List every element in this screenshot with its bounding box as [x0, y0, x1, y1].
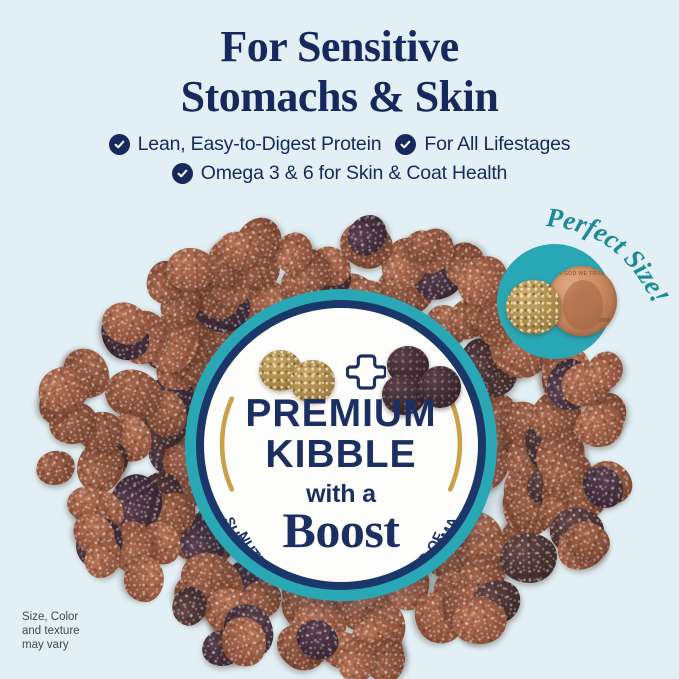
kibble-piece	[492, 393, 557, 460]
disclaimer-line-3: may vary	[22, 638, 80, 652]
kibble-piece	[405, 583, 471, 652]
kibble-piece	[144, 258, 187, 306]
kibble-piece	[533, 348, 599, 417]
kibble-piece	[202, 256, 257, 313]
kibble-piece	[373, 230, 436, 296]
feature-bullet-list: Lean, Easy-to-Digest Protein For All Lif…	[0, 133, 679, 191]
badge-title-kibble: KIBBLE	[204, 434, 478, 475]
penny-portrait	[563, 280, 603, 330]
check-circle-icon	[395, 134, 416, 155]
bullet-label: Omega 3 & 6 for Skin & Coat Health	[201, 162, 507, 185]
kibble-piece	[62, 481, 113, 529]
kibble-piece	[45, 397, 101, 448]
kibble-piece	[541, 354, 598, 416]
badge-navy-ring: NUTRIENTBOOST™ IS A BLEND OF SUPERFOODS,…	[196, 300, 486, 590]
kibble-piece	[104, 469, 167, 538]
badge-face: NUTRIENTBOOST™ IS A BLEND OF SUPERFOODS,…	[204, 308, 478, 582]
kibble-piece	[578, 345, 630, 399]
disclaimer-text: Size, Color and texture may vary	[22, 610, 80, 652]
kibble-piece	[555, 355, 618, 414]
kibble-piece	[208, 605, 262, 656]
kibble-piece	[354, 627, 411, 679]
kibble-piece	[201, 248, 246, 288]
kibble-piece	[549, 507, 605, 556]
kibble-piece	[290, 601, 346, 651]
kibble-piece	[443, 587, 507, 652]
kibble-piece	[405, 244, 472, 308]
kibble-piece	[344, 609, 409, 670]
kibble-piece	[152, 278, 207, 334]
kibble-piece	[65, 505, 123, 563]
badge-text-block: PREMIUM KIBBLE with a Boost	[204, 394, 478, 555]
kibble-piece	[559, 515, 616, 568]
kibble-piece	[514, 407, 591, 485]
kibble-piece	[507, 435, 557, 492]
kibble-piece	[134, 515, 186, 570]
bullet-item-protein: Lean, Easy-to-Digest Protein	[109, 133, 382, 156]
kibble-piece	[216, 612, 272, 672]
kibble-piece	[99, 363, 167, 426]
kibble-piece	[400, 225, 448, 271]
bullet-row-2: Omega 3 & 6 for Skin & Coat Health	[0, 162, 679, 185]
kibble-piece	[269, 227, 319, 279]
kibble-piece	[39, 386, 72, 424]
kibble-piece	[530, 424, 590, 489]
kibble-piece	[71, 436, 129, 499]
kibble-piece	[217, 234, 288, 301]
kibble-piece	[291, 248, 331, 293]
kibble-piece	[123, 556, 164, 603]
kibble-piece	[334, 215, 399, 276]
kibble-piece	[319, 629, 368, 673]
headline-line-1: For Sensitive	[220, 22, 458, 71]
kibble-piece	[356, 596, 412, 656]
kibble-piece	[535, 489, 587, 537]
kibble-piece	[215, 595, 283, 666]
kibble-piece	[197, 580, 264, 643]
kibble-piece	[572, 401, 627, 451]
perfect-size-circle: IN GOD WE TRUST 2008	[497, 244, 612, 359]
disclaimer-line-1: Size, Color	[22, 610, 80, 624]
kibble-piece	[340, 208, 395, 264]
check-circle-icon	[109, 134, 130, 155]
badge-subtitle-boost: Boost	[204, 505, 478, 555]
kibble-piece	[559, 475, 611, 525]
kibble-piece	[108, 520, 157, 575]
bullet-row-1: Lean, Easy-to-Digest Protein For All Lif…	[0, 133, 679, 156]
kibble-piece	[55, 340, 118, 406]
kibble-piece	[131, 466, 189, 528]
bullet-label: For All Lifestages	[424, 133, 570, 156]
kibble-piece	[289, 613, 346, 668]
kibble-piece	[138, 307, 207, 380]
kibble-piece	[77, 532, 129, 585]
kibble-piece	[539, 470, 586, 522]
kibble-piece	[112, 304, 176, 372]
kibble-piece	[32, 447, 79, 490]
kibble-piece	[57, 342, 115, 403]
kibble-piece	[535, 444, 601, 507]
kibble-piece	[526, 465, 577, 510]
kibble-piece	[76, 482, 133, 540]
kibble-piece	[575, 458, 632, 516]
penny-motto: IN GOD WE TRUST	[547, 271, 617, 277]
kibble-piece	[578, 452, 639, 511]
kibble-piece	[199, 228, 271, 299]
check-circle-icon	[172, 163, 193, 184]
kibble-piece	[521, 380, 591, 451]
kibble-piece	[498, 532, 557, 584]
kibble-piece	[31, 358, 96, 420]
kibble-piece	[165, 248, 216, 292]
headline-line-2: Stomachs & Skin	[0, 72, 679, 122]
kibble-piece	[67, 510, 132, 577]
plus-cross-icon	[346, 352, 386, 397]
kibble-piece	[404, 221, 462, 281]
badge-title-premium: PREMIUM	[204, 394, 478, 434]
kibble-piece	[500, 424, 560, 488]
bullet-label: Lean, Easy-to-Digest Protein	[138, 133, 382, 156]
kibble-piece	[439, 577, 489, 633]
bullet-item-omega: Omega 3 & 6 for Skin & Coat Health	[172, 162, 507, 185]
kibble-piece	[163, 259, 211, 310]
page-title: For Sensitive Stomachs & Skin	[0, 22, 679, 122]
kibble-piece	[335, 637, 379, 679]
kibble-piece	[96, 296, 155, 352]
kibble-piece	[132, 321, 190, 378]
product-infographic: For Sensitive Stomachs & Skin Lean, Easy…	[0, 0, 679, 679]
kibble-piece	[227, 209, 290, 274]
kibble-piece	[550, 517, 615, 579]
kibble-piece	[452, 595, 511, 649]
kibble-piece	[575, 385, 635, 446]
kibble-piece	[80, 433, 136, 488]
bullet-item-lifestages: For All Lifestages	[395, 133, 570, 156]
kibble-piece	[499, 519, 541, 567]
kibble-piece	[212, 226, 264, 274]
kibble-piece	[74, 407, 127, 455]
kibble-piece	[365, 637, 406, 679]
kibble-size-reference-icon	[506, 280, 562, 334]
kibble-piece	[208, 589, 257, 644]
kibble-piece	[435, 578, 491, 628]
kibble-piece	[267, 615, 334, 679]
disclaimer-line-2: and texture	[22, 624, 80, 638]
kibble-piece	[303, 238, 358, 293]
premium-kibble-badge: NUTRIENTBOOST™ IS A BLEND OF SUPERFOODS,…	[185, 289, 497, 601]
kibble-piece	[496, 454, 560, 522]
penny-year: 2008	[599, 318, 610, 324]
kibble-piece	[198, 626, 246, 670]
kibble-piece	[91, 301, 159, 370]
kibble-piece	[444, 241, 486, 289]
kibble-piece	[493, 472, 561, 544]
kibble-piece	[169, 583, 210, 628]
kibble-piece	[99, 406, 160, 469]
